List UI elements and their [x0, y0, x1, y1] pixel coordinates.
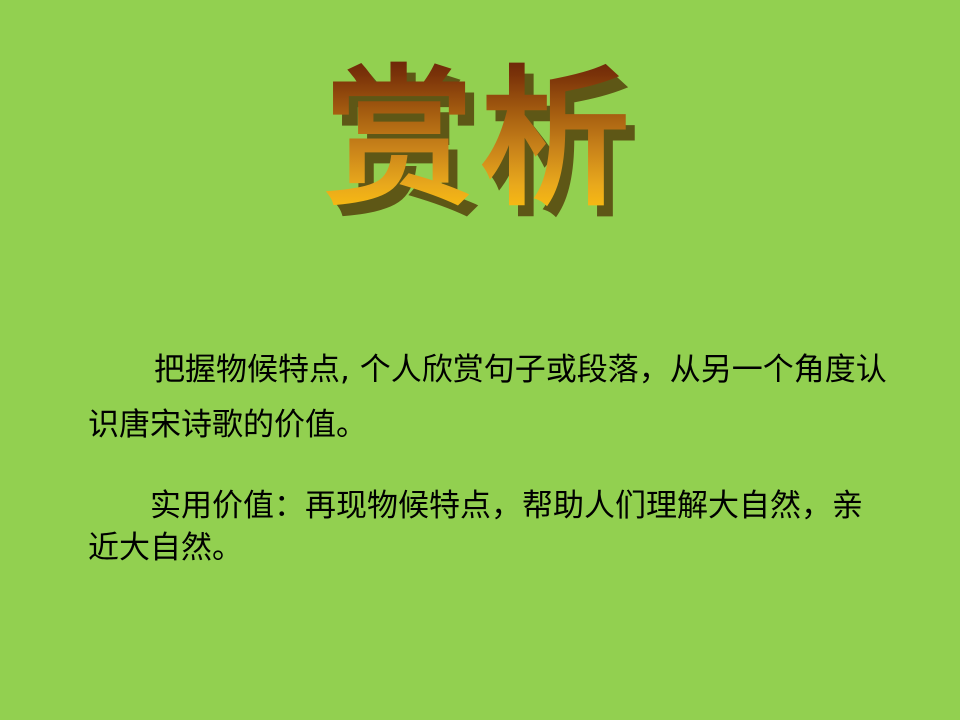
slide-canvas: 赏析 赏析 把握物候特点, 个人欣赏句子或段落，从另一个角度认识唐宋诗歌的价值。…	[0, 0, 960, 720]
slide-title-container: 赏析	[0, 44, 960, 254]
body-paragraph-practical-value: 实用价值：再现物候特点，帮助人们理解大自然，亲近大自然。	[88, 485, 888, 569]
page-title: 赏析	[324, 44, 636, 234]
body-paragraph-objective: 把握物候特点, 个人欣赏句子或段落，从另一个角度认识唐宋诗歌的价值。	[88, 343, 888, 453]
